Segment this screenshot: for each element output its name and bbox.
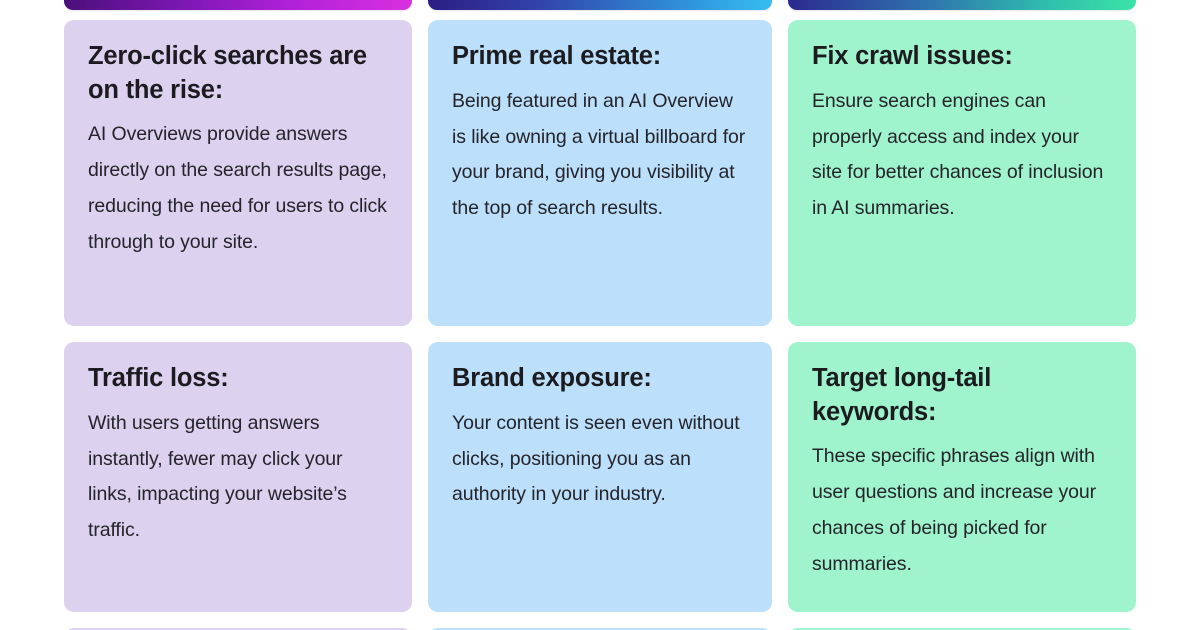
card-zero-click-searches[interactable]: Zero-click searches are on the rise: AI …: [64, 20, 412, 326]
card-traffic-loss[interactable]: Traffic loss: With users getting answers…: [64, 342, 412, 612]
card-title: Prime real estate:: [452, 40, 750, 74]
card-prime-real-estate[interactable]: Prime real estate: Being featured in an …: [428, 20, 772, 326]
card-grid: Zero-click searches are on the rise: AI …: [64, 20, 1136, 630]
card-title: Fix crawl issues:: [812, 40, 1114, 74]
card-title: Target long-tail keywords:: [812, 362, 1114, 429]
card-body: Ensure search engines can properly acces…: [812, 84, 1114, 228]
card-fix-crawl-issues[interactable]: Fix crawl issues: Ensure search engines …: [788, 20, 1136, 326]
card-body: With users getting answers instantly, fe…: [88, 406, 390, 550]
gradient-bar-purple: [64, 0, 412, 10]
gradient-bar-blue: [428, 0, 772, 10]
gradient-bar-row: [64, 0, 1136, 10]
card-target-long-tail-keywords[interactable]: Target long-tail keywords: These specifi…: [788, 342, 1136, 612]
card-title: Zero-click searches are on the rise:: [88, 40, 390, 107]
card-body: These specific phrases align with user q…: [812, 439, 1114, 583]
card-body: Being featured in an AI Overview is like…: [452, 84, 750, 228]
card-body: Your content is seen even without clicks…: [452, 406, 750, 514]
card-title: Traffic loss:: [88, 362, 390, 396]
card-brand-exposure[interactable]: Brand exposure: Your content is seen eve…: [428, 342, 772, 612]
gradient-bar-green: [788, 0, 1136, 10]
card-title: Brand exposure:: [452, 362, 750, 396]
infographic-page: Zero-click searches are on the rise: AI …: [0, 0, 1200, 630]
card-body: AI Overviews provide answers directly on…: [88, 117, 390, 261]
